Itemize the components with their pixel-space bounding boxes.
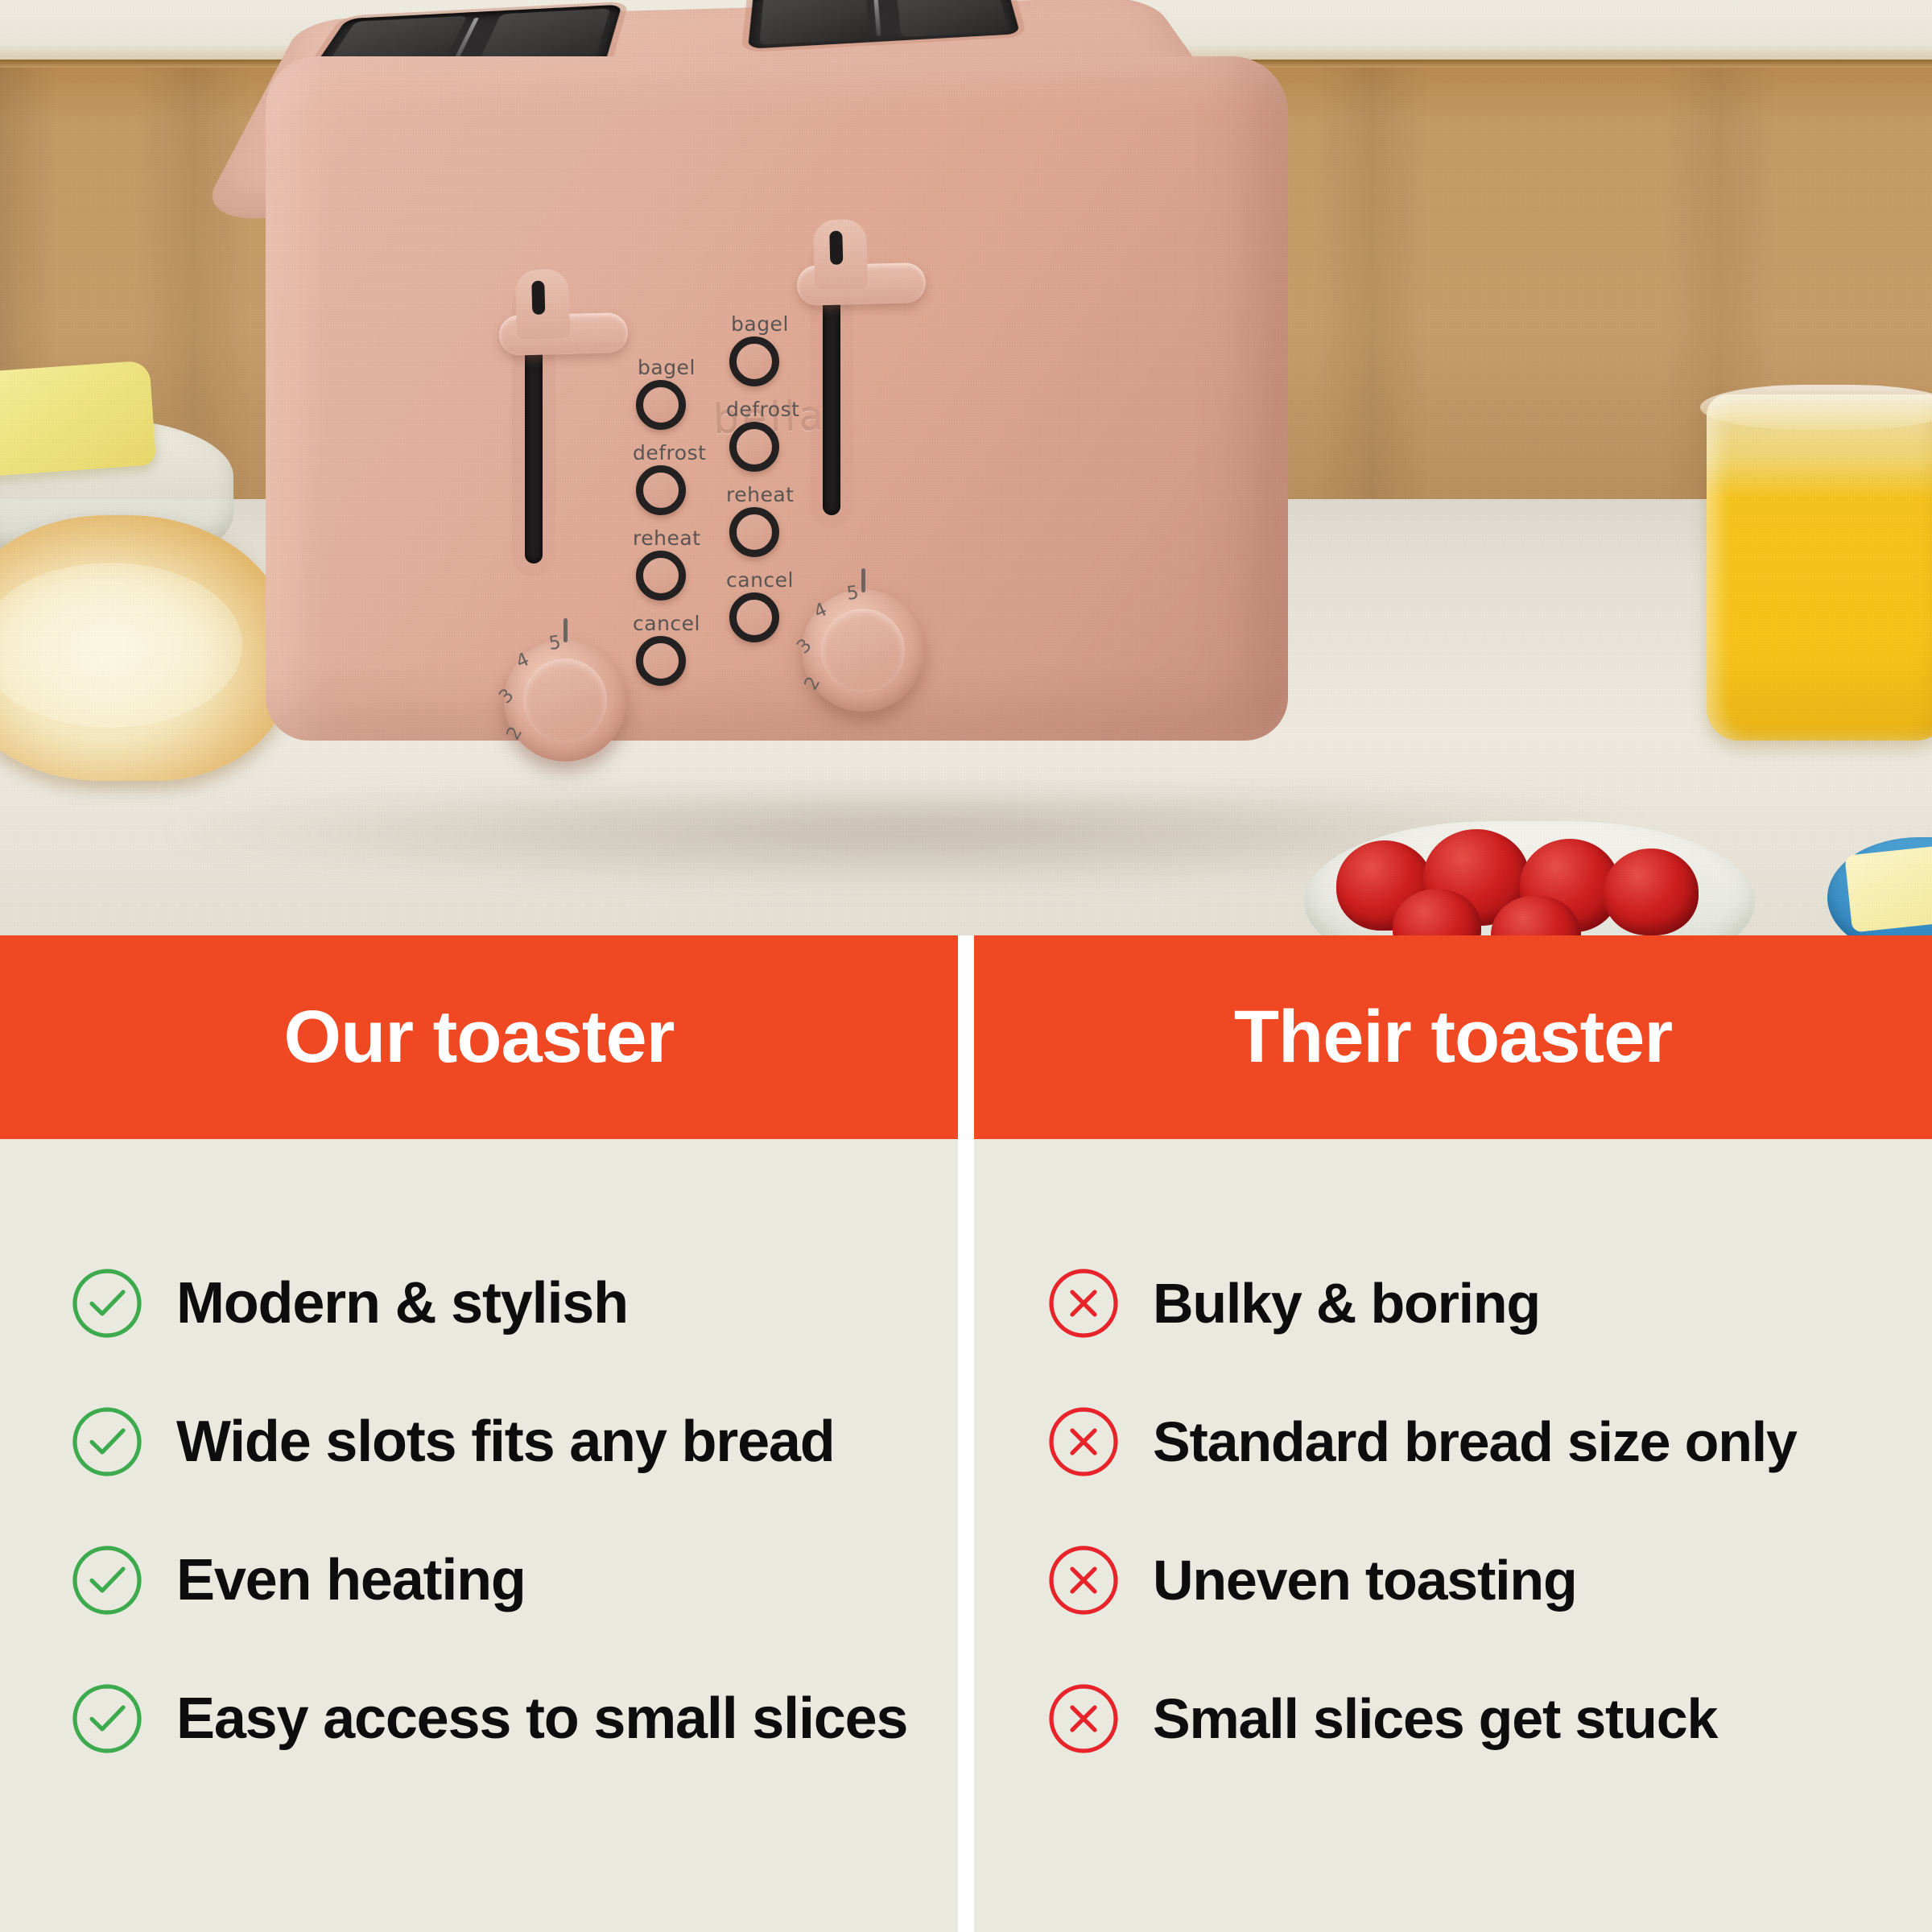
check-circle-icon <box>68 1403 146 1480</box>
toaster: bella bagel defrost reheat cancel <box>266 0 1288 797</box>
list-item: Modern & stylish <box>0 1234 958 1373</box>
dial-number: 2 <box>800 673 824 693</box>
feature-label: Uneven toasting <box>1153 1548 1577 1612</box>
feature-label: Standard bread size only <box>1153 1410 1797 1474</box>
feature-label: Easy access to small slices <box>176 1686 907 1752</box>
dial-number: 5 <box>547 632 562 654</box>
butter-block <box>0 360 156 477</box>
control-label-defrost-right: defrost <box>726 398 799 421</box>
cross-circle-icon <box>1045 1542 1122 1619</box>
dial-number: 3 <box>793 635 816 658</box>
dial-number: 4 <box>513 649 532 673</box>
check-circle-icon <box>68 1680 146 1757</box>
list-item: Wide slots fits any bread <box>0 1373 958 1511</box>
dial-number: 3 <box>495 685 518 708</box>
control-label-reheat-left: reheat <box>633 526 700 550</box>
feature-label: Modern & stylish <box>176 1270 628 1336</box>
column-body-theirs: Bulky & boring Standard bread size only <box>974 1139 1932 1932</box>
list-item: Standard bread size only <box>974 1373 1932 1511</box>
dial-number: 2 <box>502 723 526 743</box>
comparison-section: Our toaster Modern & stylish <box>0 935 1932 1932</box>
feature-list-ours: Modern & stylish Wide slots fits any bre… <box>0 1234 958 1788</box>
feature-label: Wide slots fits any bread <box>176 1409 835 1475</box>
control-label-cancel-right: cancel <box>726 568 794 592</box>
control-label-bagel-left: bagel <box>638 356 696 379</box>
product-photo: bella bagel defrost reheat cancel <box>0 0 1932 935</box>
cross-circle-icon <box>1045 1403 1122 1480</box>
list-item: Bulky & boring <box>974 1234 1932 1373</box>
berry <box>1604 848 1699 935</box>
carriage-lever-right[interactable] <box>796 262 926 306</box>
feature-list-theirs: Bulky & boring Standard bread size only <box>974 1234 1932 1788</box>
column-divider <box>958 935 974 1932</box>
orange-juice-glass <box>1707 394 1932 741</box>
feature-label: Even heating <box>176 1547 526 1613</box>
comparison-infographic: bella bagel defrost reheat cancel <box>0 0 1932 1932</box>
dial-number: 4 <box>811 599 830 623</box>
control-label-cancel-left: cancel <box>633 612 700 635</box>
browning-dial-right[interactable]: 2 3 4 5 <box>802 589 924 712</box>
comparison-column-ours: Our toaster Modern & stylish <box>0 935 958 1932</box>
control-label-reheat-right: reheat <box>726 483 794 506</box>
comparison-column-theirs: Their toaster Bulky & boring <box>974 935 1932 1932</box>
list-item: Uneven toasting <box>974 1511 1932 1649</box>
column-header-theirs: Their toaster <box>974 935 1932 1139</box>
dial-indicator-right <box>861 568 865 592</box>
cross-circle-icon <box>1045 1265 1122 1342</box>
check-circle-icon <box>68 1265 146 1342</box>
feature-label: Bulky & boring <box>1153 1271 1540 1335</box>
list-item: Small slices get stuck <box>974 1649 1932 1788</box>
feature-label: Small slices get stuck <box>1153 1686 1717 1751</box>
toaster-slot-right <box>748 0 1020 49</box>
dial-number: 5 <box>845 582 860 605</box>
column-body-ours: Modern & stylish Wide slots fits any bre… <box>0 1139 958 1932</box>
list-item: Even heating <box>0 1511 958 1649</box>
control-button-defrost-left[interactable] <box>636 465 686 515</box>
column-title-ours: Our toaster <box>284 995 675 1080</box>
control-label-defrost-left: defrost <box>633 441 706 464</box>
lever-knob-right[interactable] <box>813 219 868 290</box>
browning-dial-left[interactable]: 2 3 4 5 <box>504 639 626 762</box>
control-button-reheat-left[interactable] <box>636 551 686 601</box>
control-button-reheat-right[interactable] <box>729 507 779 557</box>
cross-circle-icon <box>1045 1680 1122 1757</box>
list-item: Easy access to small slices <box>0 1649 958 1788</box>
control-button-bagel-left[interactable] <box>636 380 686 430</box>
column-header-ours: Our toaster <box>0 935 958 1139</box>
control-label-bagel-right: bagel <box>731 312 789 336</box>
control-button-defrost-right[interactable] <box>729 422 779 472</box>
check-circle-icon <box>68 1542 146 1619</box>
column-title-theirs: Their toaster <box>1234 995 1672 1080</box>
control-button-bagel-right[interactable] <box>729 336 779 386</box>
control-button-cancel-left[interactable] <box>636 636 686 686</box>
lever-knob-left[interactable] <box>515 269 570 340</box>
control-button-cancel-right[interactable] <box>729 592 779 642</box>
orange-juice-rim <box>1700 385 1932 430</box>
dial-indicator-left <box>563 618 568 642</box>
toaster-body: bella bagel defrost reheat cancel <box>266 56 1288 741</box>
carriage-lever-left[interactable] <box>498 312 628 356</box>
